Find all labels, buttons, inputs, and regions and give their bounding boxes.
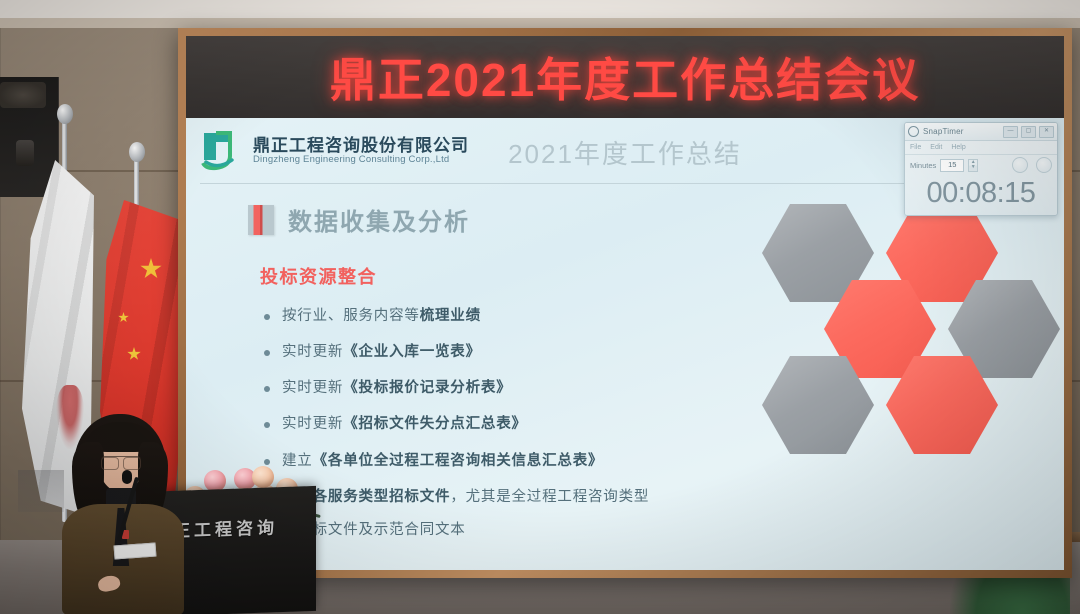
list-item: 实时更新《投标报价记录分析表》 (264, 379, 744, 397)
menu-item-file[interactable]: File (910, 144, 921, 151)
bullet-text-bold: 《企业入库一览表》 (343, 344, 481, 360)
bullet-text-bold: 《招标文件失分点汇总表》 (343, 416, 527, 432)
list-item: 建立《各单位全过程工程咨询相关信息汇总表》 (264, 452, 744, 470)
wall-plaque (0, 82, 46, 108)
minutes-stepper[interactable]: ▲▼ (968, 159, 978, 172)
microphone-icon (122, 470, 132, 484)
company-logo-block: 鼎正工程咨询股份有限公司 Dingzheng Engineering Consu… (200, 130, 469, 172)
window-button-group: — ▢ ✕ (1003, 126, 1054, 138)
hexagon-cluster (762, 204, 1030, 504)
list-item: 收集各服务类型招标文件，尤其是全过程工程咨询类型 (264, 488, 744, 506)
microphone-flag-card (114, 543, 157, 560)
presenter (56, 414, 186, 614)
maximize-icon[interactable]: ▢ (1021, 126, 1036, 138)
snaptimer-controls[interactable]: Minutes 15 ▲▼ (905, 155, 1057, 176)
snaptimer-title-bar[interactable]: SnapTimer — ▢ ✕ (905, 123, 1057, 141)
national-flag-finial (129, 142, 145, 162)
reset-button[interactable] (1036, 157, 1052, 173)
bullet-text-plain: 实时更新 (282, 416, 343, 432)
list-item: 实时更新《企业入库一览表》 (264, 343, 744, 361)
circle-timer-icon (908, 126, 919, 137)
list-item: 按行业、服务内容等梳理业绩 (264, 307, 744, 325)
conference-room-photo: 鼎正2021年度工作总结会议 鼎正工程咨询股份 (0, 0, 1080, 614)
bullet-text-bold: 各服务类型招标文件 (313, 489, 451, 505)
list-item: 实时更新《招标文件失分点汇总表》 (264, 415, 744, 433)
slide-subtitle: 2021年度工作总结 (508, 134, 742, 171)
timer-display: 00:08:15 (905, 176, 1057, 215)
menu-item-edit[interactable]: Edit (930, 144, 942, 151)
minutes-label: Minutes (910, 161, 936, 170)
bullet-text-suffix: ，尤其是全过程工程咨询类型 (450, 489, 649, 505)
minimize-icon[interactable]: — (1003, 126, 1018, 138)
bullet-text-bold: 《投标报价记录分析表》 (343, 380, 511, 396)
close-icon[interactable]: ✕ (1039, 126, 1054, 138)
section-title: 数据收集及分析 (288, 202, 470, 237)
start-button[interactable] (1012, 157, 1028, 173)
bullet-text-bold: 《各单位全过程工程咨询相关信息汇总表》 (313, 453, 604, 469)
company-name-cn: 鼎正工程咨询股份有限公司 (253, 137, 469, 155)
snaptimer-window[interactable]: SnapTimer — ▢ ✕ File Edit Help Minutes (904, 122, 1058, 216)
snaptimer-window-title: SnapTimer (923, 127, 999, 136)
bullet-text-bold: 梳理业绩 (420, 308, 481, 324)
dingzheng-logo-icon (200, 130, 244, 172)
minutes-input[interactable]: 15 (940, 159, 964, 172)
snaptimer-menu-bar[interactable]: File Edit Help (905, 141, 1057, 155)
bullet-list: 按行业、服务内容等梳理业绩 实时更新《企业入库一览表》 实时更新《投标报价记录分… (264, 307, 744, 506)
company-name-block: 鼎正工程咨询股份有限公司 Dingzheng Engineering Consu… (253, 137, 469, 166)
bullet-text-plain: 实时更新 (282, 344, 343, 360)
led-banner: 鼎正2021年度工作总结会议 (186, 36, 1064, 118)
led-banner-title: 鼎正2021年度工作总结会议 (330, 44, 920, 110)
bullet-continuation-line: 的招标文件及示范合同文本 (282, 518, 1064, 539)
company-name-en: Dingzheng Engineering Consulting Corp.,L… (253, 155, 469, 165)
bullet-text-plain: 按行业、服务内容等 (282, 308, 420, 324)
glasses-icon (101, 456, 141, 468)
menu-item-help[interactable]: Help (951, 144, 965, 151)
bullet-text-plain: 实时更新 (282, 380, 343, 396)
speaker-knob (16, 140, 34, 166)
company-flag-finial (57, 104, 73, 124)
striped-bar-icon (248, 205, 274, 235)
